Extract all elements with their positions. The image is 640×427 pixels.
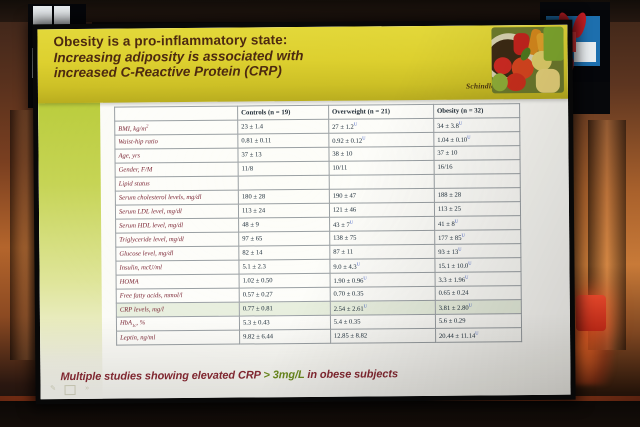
cell-overweight (329, 174, 434, 189)
row-label: CRP levels, mg/l (116, 302, 239, 317)
cell-overweight: 0.70 ± 0.35 (330, 286, 435, 301)
row-label: Glucose level, mg/dl (116, 246, 239, 261)
cell-overweight: 1.90 ± 0.96U (330, 272, 435, 287)
cell-obesity (434, 174, 520, 189)
row-label: Leptin, ng/ml (117, 330, 240, 345)
cell-overweight: 0.92 ± 0.12U (329, 132, 434, 147)
row-label: BMI, kg/m2 (115, 120, 238, 135)
red-lamp (576, 295, 606, 331)
cell-obesity: 41 ± 8U (434, 216, 520, 231)
cell-obesity: 188 ± 28 (434, 188, 520, 203)
presenter-controls[interactable]: ✎ » (49, 385, 92, 395)
row-label: Serum LDL level, mg/dl (115, 204, 238, 219)
cell-controls: 9.82 ± 6.44 (240, 329, 331, 344)
cell-overweight: 190 ± 47 (329, 188, 434, 203)
pen-tool-icon[interactable]: ✎ (49, 385, 58, 393)
cell-controls: 0.57 ± 0.27 (239, 287, 330, 302)
cell-controls: 5.3 ± 0.43 (239, 315, 330, 330)
row-label: Lipid status (115, 176, 238, 191)
cell-obesity: 3.81 ± 2.80U (435, 300, 521, 315)
cell-obesity: 34 ± 3.8U (434, 118, 520, 133)
cell-obesity: 93 ± 13U (435, 244, 521, 259)
cell-overweight: 9.0 ± 4.3U (330, 258, 435, 273)
cell-obesity: 3.3 ± 1.96U (435, 272, 521, 287)
slide-caption: Multiple studies showing elevated CRP > … (60, 367, 560, 383)
row-label: Waist-hip ratio (115, 134, 238, 149)
cell-obesity: 1.04 ± 0.10U (434, 132, 520, 147)
vegetable-bowl-image (491, 27, 564, 94)
cell-overweight: 2.54 ± 2.61U (330, 300, 435, 315)
row-label: Free fatty acids, mmol/l (116, 288, 239, 303)
cell-obesity: 20.44 ± 11.14U (435, 328, 521, 343)
cell-controls: 82 ± 14 (239, 245, 330, 260)
cell-overweight: 43 ± 7U (329, 216, 434, 231)
cell-controls: 5.1 ± 2.3 (239, 259, 330, 274)
row-label: HOMA (116, 274, 239, 289)
cell-controls: 0.77 ± 0.81 (239, 301, 330, 316)
cell-overweight: 5.4 ± 0.35 (330, 314, 435, 329)
cell-controls: 37 ± 13 (238, 147, 329, 162)
cell-controls: 1.02 ± 0.50 (239, 273, 330, 288)
table-row: Leptin, ng/ml9.82 ± 6.4412.85 ± 8.8220.4… (117, 328, 522, 346)
header-cell-label (115, 106, 238, 121)
cell-overweight: 87 ± 11 (330, 244, 435, 259)
cell-controls: 48 ± 9 (239, 217, 330, 232)
cell-obesity: 37 ± 10 (434, 146, 520, 161)
header-cell-controls: Controls (n = 19) (238, 105, 329, 120)
row-label: Serum HDL level, mg/dl (116, 218, 239, 233)
header-cell-overweight: Overweight (n = 21) (328, 104, 433, 119)
projection-screen: Obesity is a pro-inflammatory state: Inc… (37, 25, 570, 400)
cell-obesity: 0.65 ± 0.24 (435, 286, 521, 301)
next-slide-icon[interactable]: » (83, 385, 92, 393)
projection-screen-frame: Obesity is a pro-inflammatory state: Inc… (32, 20, 575, 405)
cell-obesity: 177 ± 85U (435, 230, 521, 245)
presentation-slide: Obesity is a pro-inflammatory state: Inc… (37, 25, 570, 400)
cell-controls: 113 ± 24 (238, 203, 329, 218)
cell-controls: 23 ± 1.4 (238, 119, 329, 134)
cell-controls: 97 ± 65 (239, 231, 330, 246)
cell-obesity: 16/16 (434, 160, 520, 175)
cell-overweight: 121 ± 46 (329, 202, 434, 217)
row-label: Gender, F/M (115, 162, 238, 177)
cell-overweight: 10/11 (329, 160, 434, 175)
slide-box-icon[interactable] (65, 385, 76, 395)
row-label: Triglyceride level, mg/dl (116, 232, 239, 247)
cell-obesity: 15.1 ± 10.0U (435, 258, 521, 273)
cell-overweight: 38 ± 10 (329, 146, 434, 161)
slide-accent-band (38, 91, 103, 400)
caption-highlight: > 3mg/L (263, 369, 304, 381)
cell-controls: 11/8 (238, 161, 329, 176)
title-line-3: increased C-Reactive Protein (CRP) (54, 62, 444, 81)
cell-overweight: 12.85 ± 8.82 (330, 328, 435, 343)
cell-overweight: 27 ± 1.2U (329, 118, 434, 133)
row-label: HbA1c, % (116, 316, 239, 331)
cell-overweight: 138 ± 75 (329, 230, 434, 245)
cell-obesity: 5.6 ± 0.29 (435, 314, 521, 329)
row-label: Serum cholesterol levels, mg/dl (115, 190, 238, 205)
statistics-table: Controls (n = 19) Overweight (n = 21) Ob… (114, 103, 522, 346)
table-body: BMI, kg/m223 ± 1.427 ± 1.2U34 ± 3.8UWais… (115, 118, 522, 346)
slide-title-banner: Obesity is a pro-inflammatory state: Inc… (37, 25, 568, 104)
caption-part-2: in obese subjects (304, 368, 398, 381)
row-label: Age, yrs (115, 148, 238, 163)
cell-obesity: 113 ± 25 (434, 202, 520, 217)
header-cell-obesity: Obesity (n = 32) (433, 104, 519, 119)
row-label: Insulin, mcU/ml (116, 260, 239, 275)
caption-part-1: Multiple studies showing elevated CRP (60, 369, 263, 383)
cell-controls: 0.81 ± 0.11 (238, 133, 329, 148)
cell-controls: 180 ± 28 (238, 189, 329, 204)
cell-controls (238, 175, 329, 190)
